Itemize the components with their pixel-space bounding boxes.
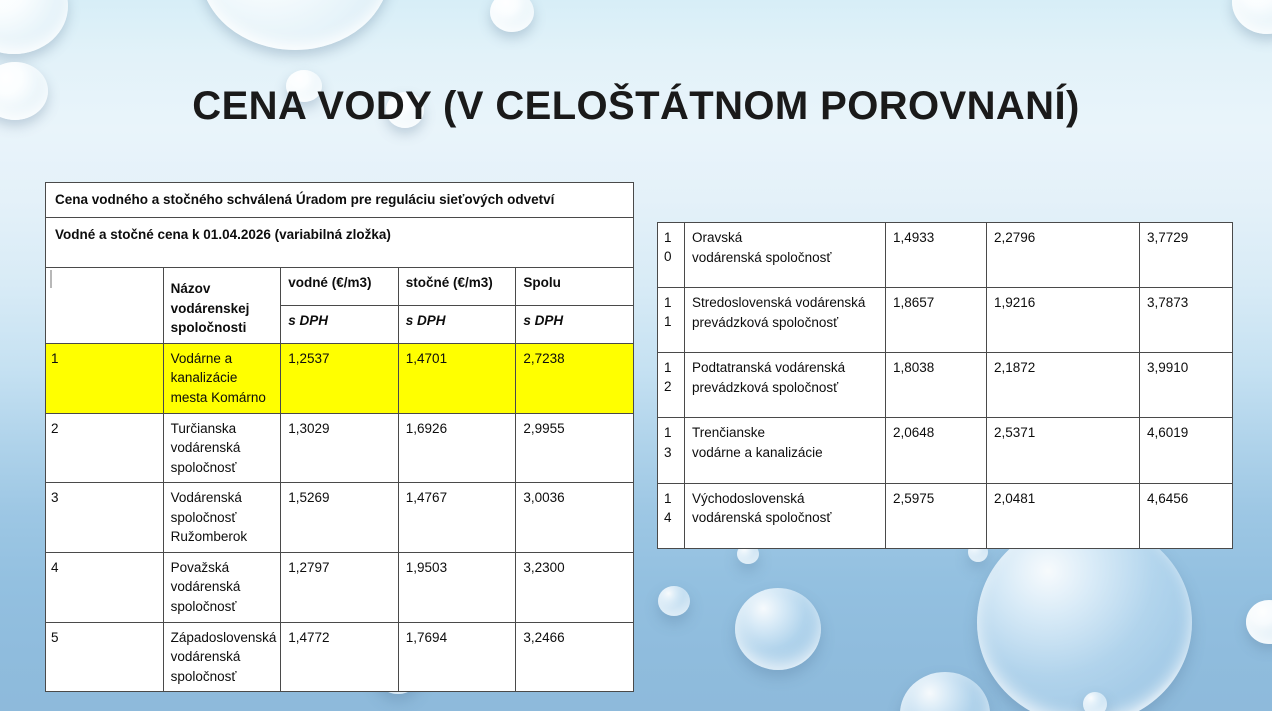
cell-vodne: 2,0648 <box>886 418 987 483</box>
company-name-line2: mesta Komárno <box>171 390 266 405</box>
cell-stocne: 1,7694 <box>398 622 516 692</box>
company-name-line2: vodárenská spoločnosť <box>692 250 831 265</box>
cell-spolu: 2,7238 <box>516 343 634 413</box>
bubble-icon <box>0 0 68 54</box>
cell-stocne: 1,9216 <box>987 288 1140 353</box>
row-number: 4 <box>46 552 164 622</box>
cell-spolu: 4,6019 <box>1140 418 1233 483</box>
row-company-name: Trenčianske vodárne a kanalizácie <box>685 418 886 483</box>
company-name-line2: vodárenská spoločnosť <box>171 649 241 684</box>
bubble-icon <box>735 588 821 670</box>
row-company-name: Oravská vodárenská spoločnosť <box>685 223 886 288</box>
company-name-line2: vodárenská spoločnosť <box>171 579 241 614</box>
company-name-line1: Východoslovenská <box>692 491 805 506</box>
row-number: 1 0 <box>658 223 685 288</box>
cell-stocne: 2,0481 <box>987 483 1140 548</box>
row-number: 1 3 <box>658 418 685 483</box>
row-company-name: Vodárne a kanalizácie mesta Komárno <box>163 343 281 413</box>
table-banner-1: Cena vodného a stočného schválená Úradom… <box>46 183 634 218</box>
bubble-icon <box>1246 600 1272 644</box>
bubble-icon <box>200 0 390 50</box>
cell-stocne: 2,5371 <box>987 418 1140 483</box>
company-name-line2: vodárne a kanalizácie <box>692 445 823 460</box>
cell-stocne: 2,1872 <box>987 353 1140 418</box>
cell-spolu: 3,7873 <box>1140 288 1233 353</box>
company-name-line2: prevádzková spoločnosť <box>692 315 838 330</box>
table-row: 5 Západoslovenská vodárenská spoločnosť … <box>46 622 634 692</box>
company-name-line2: vodárenská spoločnosť <box>171 440 241 475</box>
bubble-icon <box>658 586 690 616</box>
table-row: 1 Vodárne a kanalizácie mesta Komárno 1,… <box>46 343 634 413</box>
row-company-name: Považská vodárenská spoločnosť <box>163 552 281 622</box>
company-name-line1: Považská <box>171 560 230 575</box>
cell-vodne: 1,3029 <box>281 413 399 483</box>
company-name-line1: Turčianska <box>171 421 237 436</box>
bubble-icon <box>490 0 534 32</box>
table-banner-2: Vodné a stočné cena k 01.04.2026 (variab… <box>46 217 634 268</box>
cell-stocne: 2,2796 <box>987 223 1140 288</box>
row-number: 1 4 <box>658 483 685 548</box>
table-row: 1 4 Východoslovenská vodárenská spoločno… <box>658 483 1233 548</box>
column-header-vodne: vodné (€/m3) <box>281 268 399 306</box>
company-name-line1: Západoslovenská <box>171 630 277 645</box>
cell-vodne: 1,8657 <box>886 288 987 353</box>
bubble-icon <box>900 672 990 711</box>
company-name-line1: Vodárenská spoločnosť <box>171 490 242 525</box>
row-company-name: Stredoslovenská vodárenská prevádzková s… <box>685 288 886 353</box>
cell-vodne: 1,8038 <box>886 353 987 418</box>
table-banner-row: Vodné a stočné cena k 01.04.2026 (variab… <box>46 217 634 268</box>
table-row: 2 Turčianska vodárenská spoločnosť 1,302… <box>46 413 634 483</box>
price-table-right: 1 0 Oravská vodárenská spoločnosť 1,4933… <box>657 222 1233 549</box>
row-number: 3 <box>46 483 164 553</box>
company-name-line1: Oravská <box>692 230 742 245</box>
cell-stocne: 1,6926 <box>398 413 516 483</box>
column-subheader-vodne-dph: s DPH <box>281 305 399 343</box>
cell-vodne: 1,4772 <box>281 622 399 692</box>
cell-spolu: 4,6456 <box>1140 483 1233 548</box>
row-number: 1 <box>46 343 164 413</box>
cell-spolu: 3,9910 <box>1140 353 1233 418</box>
company-name-line1: Stredoslovenská vodárenská <box>692 295 865 310</box>
cell-vodne: 1,2537 <box>281 343 399 413</box>
price-table-left: Cena vodného a stočného schválená Úradom… <box>45 182 634 692</box>
row-number: 1 2 <box>658 353 685 418</box>
row-number: 5 <box>46 622 164 692</box>
page-title: CENA VODY (V CELOŠTÁTNOM POROVNANÍ) <box>0 84 1272 129</box>
cell-vodne: 1,5269 <box>281 483 399 553</box>
cell-vodne: 2,5975 <box>886 483 987 548</box>
column-header-stocne: stočné (€/m3) <box>398 268 516 306</box>
cell-stocne: 1,9503 <box>398 552 516 622</box>
cell-vodne: 1,4933 <box>886 223 987 288</box>
cell-stocne: 1,4767 <box>398 483 516 553</box>
row-company-name: Západoslovenská vodárenská spoločnosť <box>163 622 281 692</box>
cell-spolu: 3,0036 <box>516 483 634 553</box>
cell-stocne: 1,4701 <box>398 343 516 413</box>
column-subheader-stocne-dph: s DPH <box>398 305 516 343</box>
table-header-row: Názov vodárenskej spoločnosti vodné (€/m… <box>46 268 634 306</box>
table-row: 1 2 Podtatranská vodárenská prevádzková … <box>658 353 1233 418</box>
cell-spolu: 3,2300 <box>516 552 634 622</box>
table-row: 4 Považská vodárenská spoločnosť 1,2797 … <box>46 552 634 622</box>
company-name-line2: Ružomberok <box>171 529 248 544</box>
bubble-icon <box>1232 0 1272 34</box>
company-name-line1: Trenčianske <box>692 425 765 440</box>
company-name-line1: Vodárne a kanalizácie <box>171 351 238 386</box>
slide-canvas: CENA VODY (V CELOŠTÁTNOM POROVNANÍ) Cena… <box>0 0 1272 711</box>
company-name-line2: vodárenská spoločnosť <box>692 510 831 525</box>
bubble-icon <box>1083 692 1107 711</box>
table-row: 1 1 Stredoslovenská vodárenská prevádzko… <box>658 288 1233 353</box>
cell-spolu: 2,9955 <box>516 413 634 483</box>
column-header-num <box>46 268 164 344</box>
table-row: 3 Vodárenská spoločnosť Ružomberok 1,526… <box>46 483 634 553</box>
row-number: 2 <box>46 413 164 483</box>
cell-vodne: 1,2797 <box>281 552 399 622</box>
company-name-line1: Podtatranská vodárenská <box>692 360 845 375</box>
bubble-icon <box>977 520 1192 711</box>
company-name-line2: prevádzková spoločnosť <box>692 380 838 395</box>
row-company-name: Východoslovenská vodárenská spoločnosť <box>685 483 886 548</box>
row-company-name: Podtatranská vodárenská prevádzková spol… <box>685 353 886 418</box>
page-title-text: CENA VODY (V CELOŠTÁTNOM POROVNANÍ) <box>192 84 1079 128</box>
table-row: 1 0 Oravská vodárenská spoločnosť 1,4933… <box>658 223 1233 288</box>
row-company-name: Vodárenská spoločnosť Ružomberok <box>163 483 281 553</box>
row-number: 1 1 <box>658 288 685 353</box>
column-header-spolu: Spolu <box>516 268 634 306</box>
row-company-name: Turčianska vodárenská spoločnosť <box>163 413 281 483</box>
cell-spolu: 3,7729 <box>1140 223 1233 288</box>
column-header-name: Názov vodárenskej spoločnosti <box>163 268 281 344</box>
table-banner-row: Cena vodného a stočného schválená Úradom… <box>46 183 634 218</box>
table-row: 1 3 Trenčianske vodárne a kanalizácie 2,… <box>658 418 1233 483</box>
column-subheader-spolu-dph: s DPH <box>516 305 634 343</box>
cell-spolu: 3,2466 <box>516 622 634 692</box>
